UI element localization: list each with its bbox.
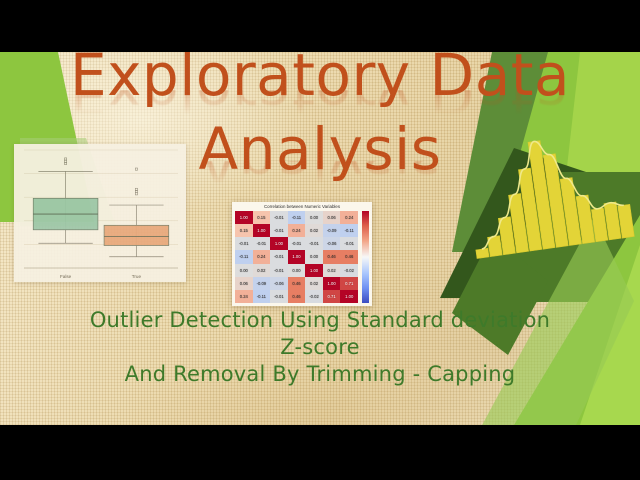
heatmap-cell: 0.02: [305, 224, 323, 237]
heatmap-cell: 1.00: [270, 237, 288, 250]
subtitle-line-2: Z-score: [0, 334, 640, 361]
heatmap-cell: 0.00: [305, 211, 323, 224]
heatmap-cell: 0.24: [288, 224, 306, 237]
heatmap-cell: 0.46: [323, 250, 341, 263]
heatmap-colorbar: [362, 211, 369, 303]
heatmap-cell: -0.06: [323, 237, 341, 250]
heatmap-cell: 1.00: [288, 250, 306, 263]
heatmap-cell: -0.11: [253, 290, 271, 303]
heatmap-cell: 0.46: [288, 290, 306, 303]
boxplot-x-tick-label: True: [132, 274, 142, 279]
heatmap-cell: 0.06: [235, 277, 253, 290]
subtitle-line-1: Outlier Detection Using Standard deviati…: [0, 307, 640, 334]
heatmap-cell: 0.24: [235, 290, 253, 303]
heatmap-cell: 1.00: [323, 277, 341, 290]
boxplot-x-tick-label: False: [60, 274, 72, 279]
slide-canvas: Exploratory Data Exploratory Data Analys…: [0, 52, 640, 425]
heatmap-cell: -0.09: [253, 277, 271, 290]
heatmap-cell: -0.02: [305, 290, 323, 303]
letterbox-bottom: [0, 425, 640, 480]
heatmap-cell: 0.24: [340, 211, 358, 224]
heatmap-cell: -0.11: [235, 250, 253, 263]
heatmap-cell: 0.02: [305, 277, 323, 290]
histogram-graphic: [460, 119, 636, 266]
heatmap-cell: -0.01: [235, 237, 253, 250]
heatmap-cell: 0.02: [253, 264, 271, 277]
heatmap-cell: 0.71: [323, 290, 341, 303]
boxplot-box: [104, 225, 169, 245]
heatmap-cell: 0.00: [235, 264, 253, 277]
heatmap-cell: -0.01: [270, 211, 288, 224]
heatmap-cell: -0.01: [270, 290, 288, 303]
heatmap-cell: 0.46: [340, 250, 358, 263]
heatmap-title: Correlation between Numeric Variables: [235, 204, 369, 211]
heatmap-cell: -0.02: [340, 264, 358, 277]
heatmap-cell: 1.00: [305, 264, 323, 277]
heatmap-cell: -0.01: [305, 237, 323, 250]
heatmap-cell: -0.11: [340, 224, 358, 237]
heatmap-cell: 1.00: [235, 211, 253, 224]
heatmap-cell: -0.06: [270, 277, 288, 290]
heatmap-cell: 0.02: [323, 264, 341, 277]
heatmap-cell: 0.46: [288, 277, 306, 290]
heatmap-cell: 0.24: [253, 250, 271, 263]
heatmap-cell: -0.01: [270, 224, 288, 237]
heatmap-cell: -0.01: [253, 237, 271, 250]
subtitle-line-3: And Removal By Trimming - Capping: [0, 361, 640, 388]
histogram-svg: [460, 119, 636, 266]
heatmap-cell: -0.01: [288, 237, 306, 250]
heatmap-cell: -0.01: [340, 237, 358, 250]
heatmap-cell: 0.00: [288, 264, 306, 277]
slide-subtitle: Outlier Detection Using Standard deviati…: [0, 307, 640, 388]
heatmap-cell: 0.15: [253, 211, 271, 224]
correlation-heatmap-figure: Correlation between Numeric Variables 1.…: [232, 202, 372, 306]
heatmap-cell: -0.11: [288, 211, 306, 224]
heatmap-body: 1.000.15-0.01-0.110.000.060.240.151.00-0…: [235, 211, 369, 303]
heatmap-cell: -0.01: [270, 250, 288, 263]
letterbox-top: [0, 0, 640, 52]
heatmap-cell: -0.09: [323, 224, 341, 237]
heatmap-cell: 0.71: [340, 277, 358, 290]
heatmap-cell: 0.15: [235, 224, 253, 237]
heatmap-cell: -0.01: [270, 264, 288, 277]
heatmap-cell: 1.00: [340, 290, 358, 303]
heatmap-cell: 0.06: [323, 211, 341, 224]
heatmap-cell: 1.00: [253, 224, 271, 237]
slide-stage: Exploratory Data Exploratory Data Analys…: [0, 0, 640, 480]
heatmap-grid: 1.000.15-0.01-0.110.000.060.240.151.00-0…: [235, 211, 358, 303]
heatmap-cell: 0.00: [305, 250, 323, 263]
title-line-1-reflection: Exploratory Data: [0, 90, 640, 120]
